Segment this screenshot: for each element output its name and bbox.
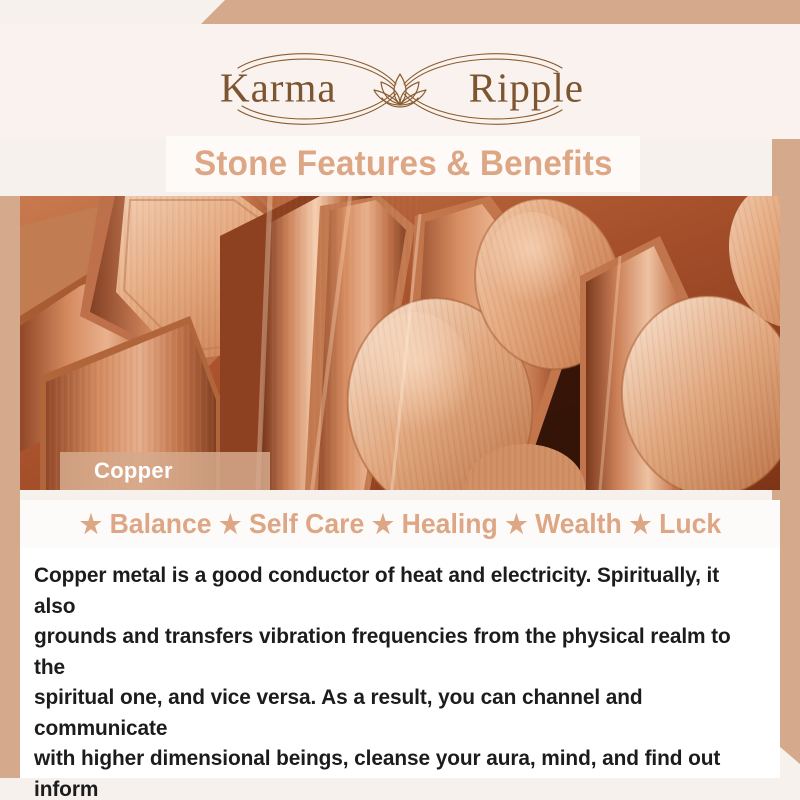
description-line: grounds and transfers vibration frequenc… bbox=[34, 621, 750, 682]
star-icon-4: ★ bbox=[501, 511, 533, 537]
frame-left-bar bbox=[0, 196, 20, 800]
photo-caption-label: Copper bbox=[60, 458, 173, 484]
frame-top-bar bbox=[0, 0, 800, 24]
feature-label-wealth: Wealth bbox=[533, 508, 625, 540]
lotus-flower-icon bbox=[374, 74, 426, 107]
features-strip: ★ Balance ★ Self Care ★ Healing ★ Wealth… bbox=[20, 500, 780, 548]
photo-caption-banner: Copper bbox=[60, 452, 270, 490]
feature-label-self-care: Self Care bbox=[247, 508, 368, 540]
copper-bars-photo: Copper bbox=[20, 196, 780, 490]
brand-logo: Karma Ripple bbox=[0, 46, 800, 132]
photo-artwork bbox=[20, 196, 780, 490]
feature-label-balance: Balance bbox=[107, 508, 215, 540]
brand-name-left: Karma bbox=[220, 68, 337, 109]
feature-label-healing: Healing bbox=[399, 508, 501, 540]
infographic-page: Karma Ripple Stone Features & Benefits bbox=[0, 0, 800, 800]
star-icon-5: ★ bbox=[625, 511, 657, 537]
star-icon-3: ★ bbox=[368, 511, 400, 537]
description-line: Copper metal is a good conductor of heat… bbox=[34, 560, 750, 621]
star-icon-2: ★ bbox=[215, 511, 247, 537]
description-text: Copper metal is a good conductor of heat… bbox=[34, 560, 750, 800]
description-panel: Copper metal is a good conductor of heat… bbox=[20, 548, 780, 778]
features-row: ★ Balance ★ Self Care ★ Healing ★ Wealth… bbox=[76, 508, 725, 540]
star-icon-1: ★ bbox=[76, 511, 108, 537]
feature-label-luck: Luck bbox=[657, 508, 725, 540]
description-line: spiritual one, and vice versa. As a resu… bbox=[34, 682, 750, 743]
header: Karma Ripple bbox=[0, 24, 800, 139]
page-title: Stone Features & Benefits bbox=[194, 144, 613, 184]
title-band: Stone Features & Benefits bbox=[166, 136, 640, 192]
brand-name-right: Ripple bbox=[469, 68, 584, 109]
description-line: with higher dimensional beings, cleanse … bbox=[34, 743, 750, 800]
